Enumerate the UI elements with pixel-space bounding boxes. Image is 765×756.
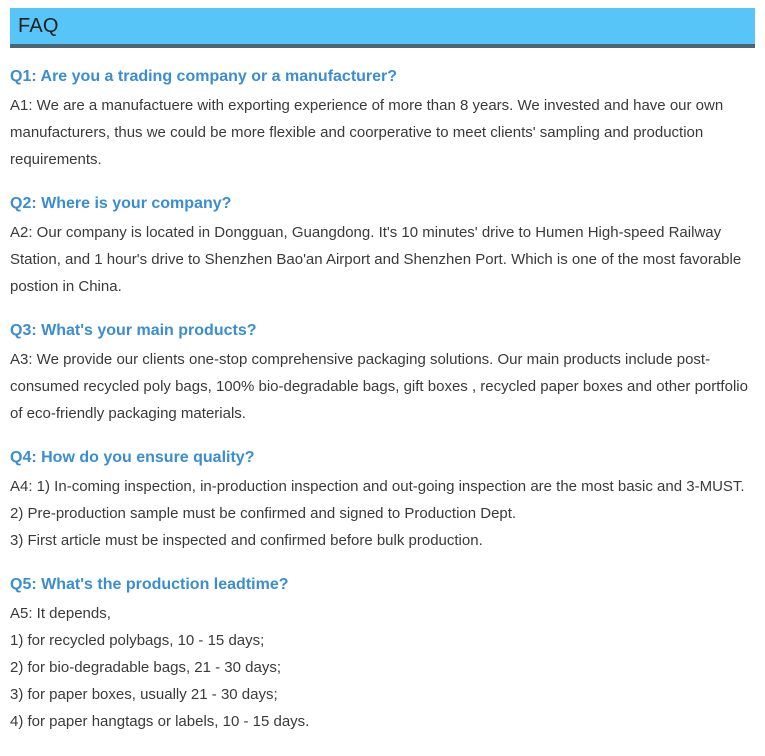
faq-banner: FAQ <box>10 8 755 48</box>
faq-answer: A3: We provide our clients one-stop comp… <box>10 346 755 427</box>
faq-answer-paragraph: 3) for paper boxes, usually 21 - 30 days… <box>10 681 755 708</box>
faq-answer-paragraph: 1) for recycled polybags, 10 - 15 days; <box>10 627 755 654</box>
faq-answer-paragraph: A1: We are a manufactuere with exporting… <box>10 92 755 173</box>
faq-answer-paragraph: 2) Pre-production sample must be confirm… <box>10 500 755 527</box>
faq-answer-paragraph: 4) for paper hangtags or labels, 10 - 15… <box>10 708 755 735</box>
faq-question: Q5: What's the production leadtime? <box>10 574 755 596</box>
faq-banner-title: FAQ <box>18 16 59 36</box>
faq-answer-paragraph: A5: It depends, <box>10 600 755 627</box>
faq-answer-paragraph: A2: Our company is located in Dongguan, … <box>10 219 755 300</box>
faq-item: Q4: How do you ensure quality? A4: 1) In… <box>10 447 755 554</box>
faq-question: Q1: Are you a trading company or a manuf… <box>10 66 755 88</box>
faq-answer: A5: It depends, 1) for recycled polybags… <box>10 600 755 735</box>
faq-question: Q2: Where is your company? <box>10 193 755 215</box>
faq-question: Q3: What's your main products? <box>10 320 755 342</box>
faq-answer-paragraph: 3) First article must be inspected and c… <box>10 527 755 554</box>
faq-question: Q4: How do you ensure quality? <box>10 447 755 469</box>
faq-answer: A4: 1) In-coming inspection, in-producti… <box>10 473 755 554</box>
faq-answer: A2: Our company is located in Dongguan, … <box>10 219 755 300</box>
faq-answer-paragraph: A3: We provide our clients one-stop comp… <box>10 346 755 427</box>
faq-item: Q2: Where is your company? A2: Our compa… <box>10 193 755 300</box>
faq-item: Q5: What's the production leadtime? A5: … <box>10 574 755 735</box>
faq-answer: A1: We are a manufactuere with exporting… <box>10 92 755 173</box>
faq-answer-paragraph: A4: 1) In-coming inspection, in-producti… <box>10 473 755 500</box>
faq-answer-paragraph: 2) for bio-degradable bags, 21 - 30 days… <box>10 654 755 681</box>
faq-list: Q1: Are you a trading company or a manuf… <box>0 66 765 735</box>
faq-page: FAQ Q1: Are you a trading company or a m… <box>0 8 765 756</box>
faq-item: Q1: Are you a trading company or a manuf… <box>10 66 755 173</box>
faq-item: Q3: What's your main products? A3: We pr… <box>10 320 755 427</box>
